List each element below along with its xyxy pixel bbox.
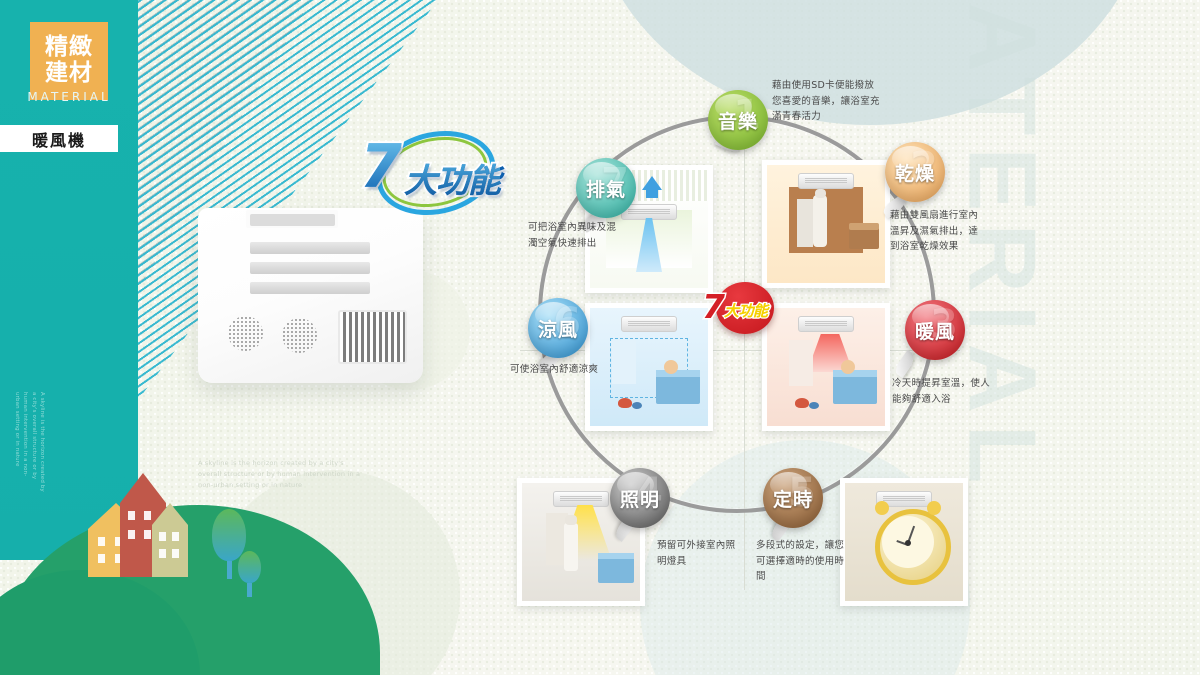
pin-label-cool: 涼風 [538,315,578,342]
pin-lighting[interactable]: 4 照明 [610,468,670,528]
caption-warm: 冷天時提昇室溫，使人能夠舒適入浴 [892,376,992,407]
feature-photo-warm [762,303,890,431]
decor-house-tan [152,503,188,577]
product-image [198,208,423,383]
feature-photo-drying [762,160,890,288]
hero-logo-number: 7 [360,132,402,202]
brand-logo-line2: 建材 [45,61,93,87]
caption-lighting: 預留可外接室內照明燈具 [657,538,737,569]
hero-logo-text: 大功能 [404,154,500,202]
product-louver-3 [250,282,370,294]
product-louver-1 [250,242,370,254]
teal-panel-caption: A skyline is the horizon created by a ci… [13,392,47,492]
center-badge-text: 大功能 [724,300,768,321]
product-speaker-left [228,316,263,351]
center-badge: 7 大功能 大功能 [702,282,778,338]
brand-logo: 精緻 建材 [30,22,108,100]
slide-canvas: MATERIAL 精緻 建材 MATERIAL 暖風機 A skyline is… [0,0,1200,675]
pin-label-exhaust: 排氣 [586,175,626,202]
caption-exhaust: 可把浴室內異味及混濁空氣快速排出 [528,220,618,251]
decor-tree-small [238,551,261,597]
pin-label-warm: 暖風 [915,317,955,344]
pin-label-music: 音樂 [718,107,758,134]
caption-timer: 多段式的設定，讓您可選擇適時的使用時間 [756,538,852,585]
hero-logo: 7 7 大功能 大功能 [352,128,502,212]
brand-logo-line1: 精緻 [45,35,93,61]
pin-warm[interactable]: 3 暖風 [905,300,965,360]
feature-photo-timer [840,478,968,606]
brand-logo-subtitle: MATERIAL [0,90,138,104]
pin-timer[interactable]: 5 定時 [763,468,823,528]
pin-exhaust[interactable]: 7 排氣 [576,158,636,218]
caption-drying: 藉由雙風扇進行室內溫昇及濕氣排出，達到浴室乾燥效果 [890,208,984,255]
category-chip: 暖風機 [0,125,118,152]
feature-diagram: 7 大功能 大功能 1 音樂 藉由使用SD卡便能撥放您喜愛的音樂，讓浴室充滿青春… [500,60,1030,620]
center-badge-number: 7 [702,287,725,326]
pin-label-lighting: 照明 [620,485,660,512]
product-top-slot [250,214,335,226]
product-louver-2 [250,262,370,274]
product-speaker-right [282,318,317,353]
caption-cool: 可使浴室內舒適涼爽 [510,362,628,378]
product-vent-grille [338,310,407,364]
pin-drying[interactable]: 2 乾燥 [885,142,945,202]
pin-cool[interactable]: 6 涼風 [528,298,588,358]
caption-music: 藉由使用SD卡便能撥放您喜愛的音樂，讓浴室充滿青春活力 [772,78,882,125]
pin-music[interactable]: 1 音樂 [708,90,768,150]
pin-label-timer: 定時 [773,485,813,512]
decor-faded-caption: A skyline is the horizon created by a ci… [198,458,366,491]
pin-label-drying: 乾燥 [895,159,935,186]
